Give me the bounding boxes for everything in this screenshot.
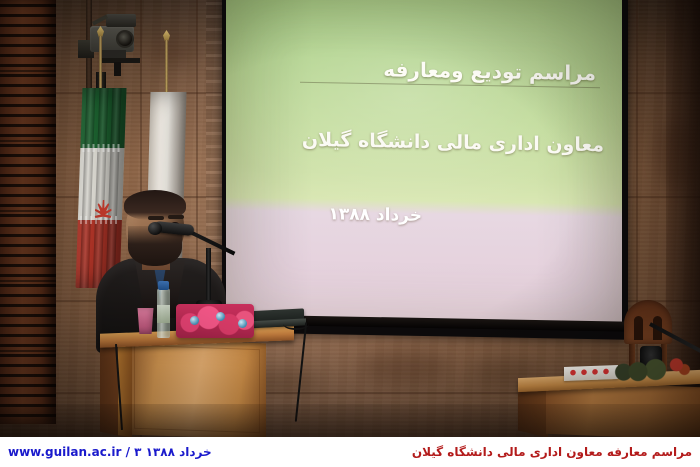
water-bottle-label <box>157 305 170 323</box>
flagpole-white <box>165 40 168 96</box>
microphone-capsule <box>148 222 162 235</box>
water-bottle-cap <box>158 281 169 290</box>
camera-stem <box>114 62 121 76</box>
speaker-brow <box>168 215 184 219</box>
camera-lens <box>116 30 134 48</box>
slide-line-1: مراسم تودیع ومعارفه <box>383 57 596 85</box>
caption-website-date[interactable]: www.guilan.ac.ir / ۳ خرداد ۱۳۸۸ <box>8 445 212 459</box>
floor-shadow-band <box>0 404 700 437</box>
slide-line-3: خرداد ۱۳۸۸ <box>328 204 422 226</box>
caption-bar: www.guilan.ac.ir / ۳ خرداد ۱۳۸۸ مراسم مع… <box>0 437 700 467</box>
flower-arrangement <box>614 356 694 382</box>
wrapped-gifts <box>176 304 254 338</box>
slide-line-2: معاون اداری مالی دانشگاه گیلان <box>302 129 604 157</box>
photograph-scene: مراسم تودیع ومعارفه معاون اداری مالی دان… <box>0 0 700 467</box>
slide-content: مراسم تودیع ومعارفه معاون اداری مالی دان… <box>226 0 622 330</box>
camera-viewfinder <box>106 14 136 27</box>
caption-event-title: مراسم معارفه معاون اداری مالی دانشگاه گی… <box>412 445 692 459</box>
wall-blotch <box>150 40 196 66</box>
acoustic-panel-slats <box>0 0 56 424</box>
wall-blotch <box>360 350 450 384</box>
chair-back <box>624 300 672 344</box>
projection-screen: مراسم تودیع ومعارفه معاون اداری مالی دان… <box>226 0 622 330</box>
flag-kufic-band <box>82 144 122 152</box>
acoustic-panel <box>0 0 56 424</box>
flagpole-iran <box>99 36 102 92</box>
speaker-brow <box>148 216 164 220</box>
